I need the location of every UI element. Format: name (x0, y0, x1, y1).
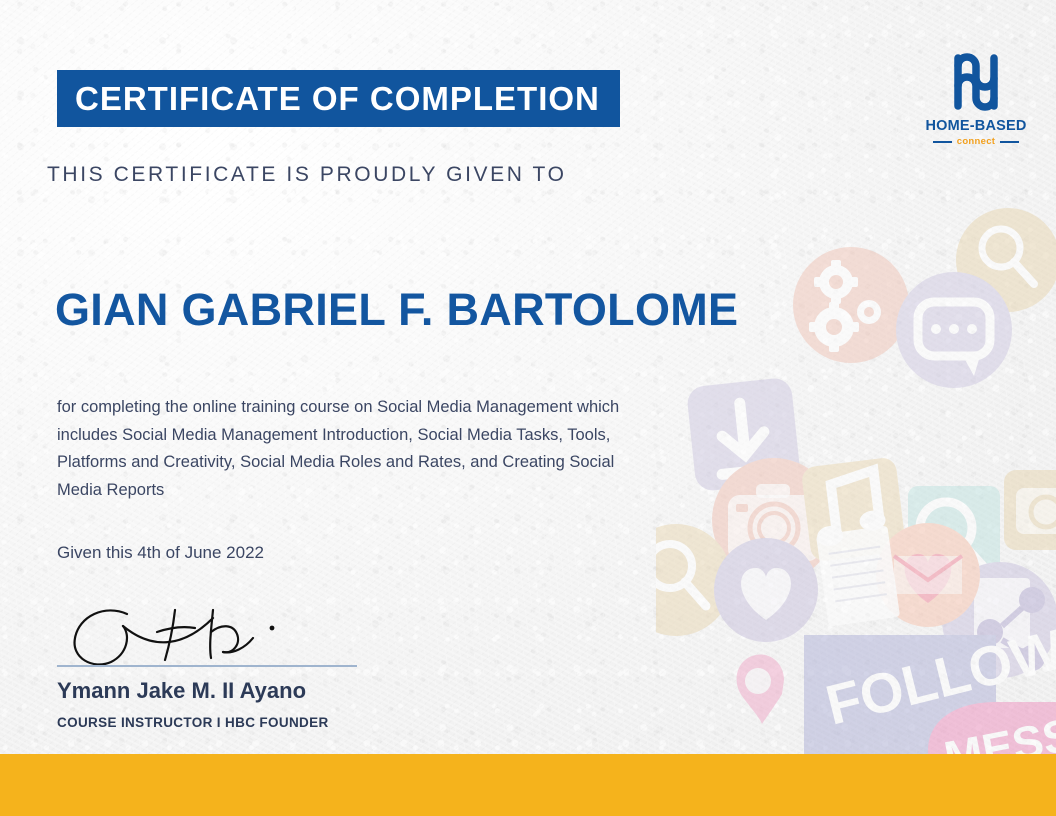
certificate-document: FOLLOW MESSAGE CERTIFICATE OF COMPLETION… (0, 0, 1056, 816)
logo-brand-sub: connect (957, 136, 996, 147)
brand-logo: HOME-BASED connect (920, 48, 1032, 147)
signer-role: COURSE INSTRUCTOR I HBC FOUNDER (57, 715, 329, 730)
home-based-connect-h-monogram (945, 48, 1007, 116)
recipient-name: GIAN GABRIEL F. BARTOLOME (55, 284, 738, 336)
course-description: for completing the online training cours… (57, 394, 657, 504)
logo-dash-left (933, 141, 952, 143)
logo-sub-row: connect (920, 136, 1032, 147)
page-title: CERTIFICATE OF COMPLETION (57, 80, 600, 118)
signature-line (57, 665, 357, 667)
given-to-label: THIS CERTIFICATE IS PROUDLY GIVEN TO (47, 163, 567, 187)
signer-name: Ymann Jake M. II Ayano (57, 678, 306, 704)
logo-dash-right (1000, 141, 1019, 143)
logo-brand-name: HOME-BASED (920, 118, 1032, 134)
footer-accent-bar (0, 754, 1056, 816)
certificate-title-banner: CERTIFICATE OF COMPLETION (57, 70, 620, 127)
issue-date: Given this 4th of June 2022 (57, 543, 264, 563)
handwritten-signature (65, 602, 295, 672)
